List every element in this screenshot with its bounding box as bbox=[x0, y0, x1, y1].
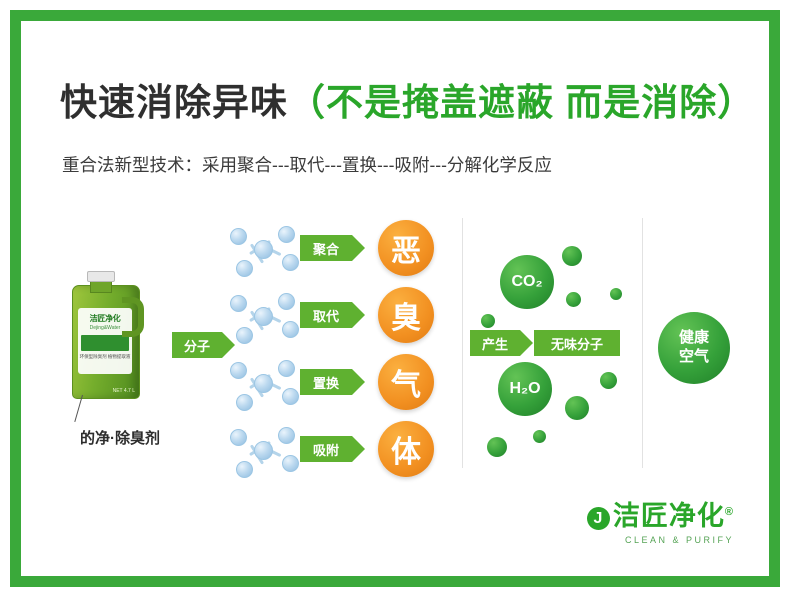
page-title: 快速消除异味（不是掩盖遮蔽 而是消除） bbox=[60, 72, 740, 126]
co2-molecule-icon: CO₂ bbox=[500, 255, 554, 309]
brand-registered-mark: ® bbox=[725, 506, 734, 518]
healthy-air-badge: 健康 空气 bbox=[658, 312, 730, 384]
healthy-air-line2: 空气 bbox=[679, 348, 709, 365]
odor-char-1: 恶 bbox=[378, 220, 434, 276]
molecule-cluster-3 bbox=[228, 356, 302, 412]
panel-divider-right bbox=[642, 218, 643, 468]
molecule-cluster-4 bbox=[228, 423, 302, 479]
green-dot-7 bbox=[533, 430, 546, 443]
bottle-handle bbox=[122, 297, 144, 337]
product-bottle-group: NET 4.7 L 洁匠净化 Dejing&Water 环保型除臭剂 植物提取液… bbox=[60, 275, 180, 465]
arrow-step-3: 置换 bbox=[300, 369, 352, 395]
odor-char-2: 臭 bbox=[378, 287, 434, 343]
poster-root: 快速消除异味（不是掩盖遮蔽 而是消除） 重合法新型技术：采用聚合---取代---… bbox=[0, 0, 790, 597]
brand-j-mark: J bbox=[587, 507, 610, 530]
green-dot-3 bbox=[481, 314, 495, 328]
odorless-molecule-tag: 无味分子 bbox=[534, 330, 620, 356]
brand-name-row: J洁匠净化® bbox=[587, 494, 734, 533]
green-dot-2 bbox=[566, 292, 581, 307]
headline-secondary: （不是掩盖遮蔽 而是消除） bbox=[288, 82, 755, 123]
arrow-step-2: 取代 bbox=[300, 302, 352, 328]
green-dot-6 bbox=[487, 437, 507, 457]
bottle-label-bar bbox=[81, 335, 129, 351]
green-dot-4 bbox=[565, 396, 589, 420]
bottle-label-desc: 环保型除臭剂 植物提取液 bbox=[78, 354, 132, 361]
green-dot-5 bbox=[600, 372, 617, 389]
healthy-air-label: 健康 空气 bbox=[679, 329, 709, 367]
green-dot-1 bbox=[562, 246, 582, 266]
brand-name: 洁匠净化 bbox=[613, 501, 725, 531]
subtitle-text: 重合法新型技术：采用聚合---取代---置换---吸附---分解化学反应 bbox=[62, 152, 742, 177]
brand-tagline: CLEAN & PURIFY bbox=[587, 535, 734, 545]
bottle-cap bbox=[87, 271, 115, 282]
odor-char-3: 气 bbox=[378, 354, 434, 410]
green-dot-8 bbox=[610, 288, 622, 300]
healthy-air-line1: 健康 bbox=[679, 329, 709, 346]
odor-char-4: 体 bbox=[378, 421, 434, 477]
arrow-input-molecule: 分子 bbox=[172, 332, 222, 358]
molecule-cluster-1 bbox=[228, 222, 302, 278]
product-caption: 的净·除臭剂 bbox=[50, 427, 190, 448]
arrow-step-4: 吸附 bbox=[300, 436, 352, 462]
brand-logo: J洁匠净化® CLEAN & PURIFY bbox=[587, 494, 734, 545]
h2o-molecule-icon: H₂O bbox=[498, 362, 552, 416]
arrow-step-1: 聚合 bbox=[300, 235, 352, 261]
headline-primary: 快速消除异味 bbox=[60, 82, 288, 123]
bottle-volume: NET 4.7 L bbox=[113, 388, 135, 394]
arrow-produce: 产生 bbox=[470, 330, 520, 356]
molecule-cluster-2 bbox=[228, 289, 302, 345]
panel-divider-left bbox=[462, 218, 463, 468]
